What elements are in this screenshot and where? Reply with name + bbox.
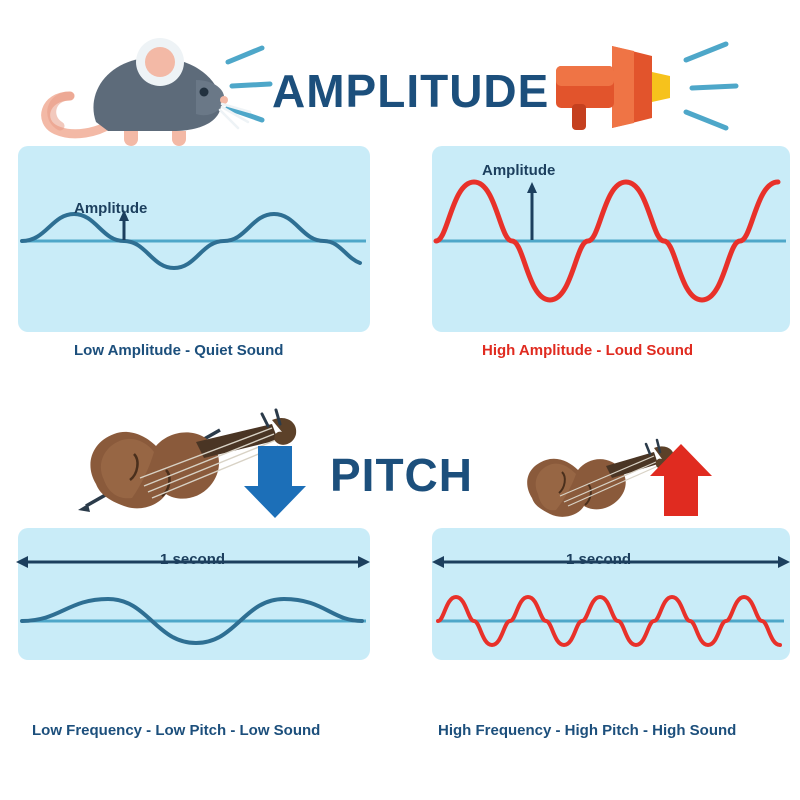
mouse-icon bbox=[46, 38, 270, 146]
panel-low-frequency bbox=[18, 528, 370, 660]
page-title-pitch: PITCH bbox=[330, 448, 473, 502]
panel-low-amplitude bbox=[18, 146, 370, 332]
label-one-second-high: 1 second bbox=[566, 551, 631, 568]
caption-high-frequency: High Frequency - High Pitch - High Sound bbox=[438, 722, 736, 739]
label-amplitude-low: Amplitude bbox=[74, 200, 147, 217]
caption-high-amplitude: High Amplitude - Loud Sound bbox=[482, 342, 693, 359]
illustrations-layer bbox=[0, 0, 800, 800]
label-one-second-low: 1 second bbox=[160, 551, 225, 568]
violin-icon bbox=[527, 440, 674, 517]
diagram-canvas: AMPLITUDE PITCH Amplitude Amplitude 1 se… bbox=[0, 0, 800, 800]
caption-low-frequency: Low Frequency - Low Pitch - Low Sound bbox=[32, 722, 320, 739]
caption-low-amplitude: Low Amplitude - Quiet Sound bbox=[74, 342, 283, 359]
page-title-amplitude: AMPLITUDE bbox=[272, 64, 549, 118]
label-amplitude-high: Amplitude bbox=[482, 162, 555, 179]
panel-high-frequency bbox=[432, 528, 790, 660]
double-bass-icon bbox=[78, 410, 296, 512]
arrow-up-icon bbox=[650, 444, 712, 516]
megaphone-icon bbox=[556, 44, 736, 130]
arrow-down-icon bbox=[244, 446, 306, 518]
